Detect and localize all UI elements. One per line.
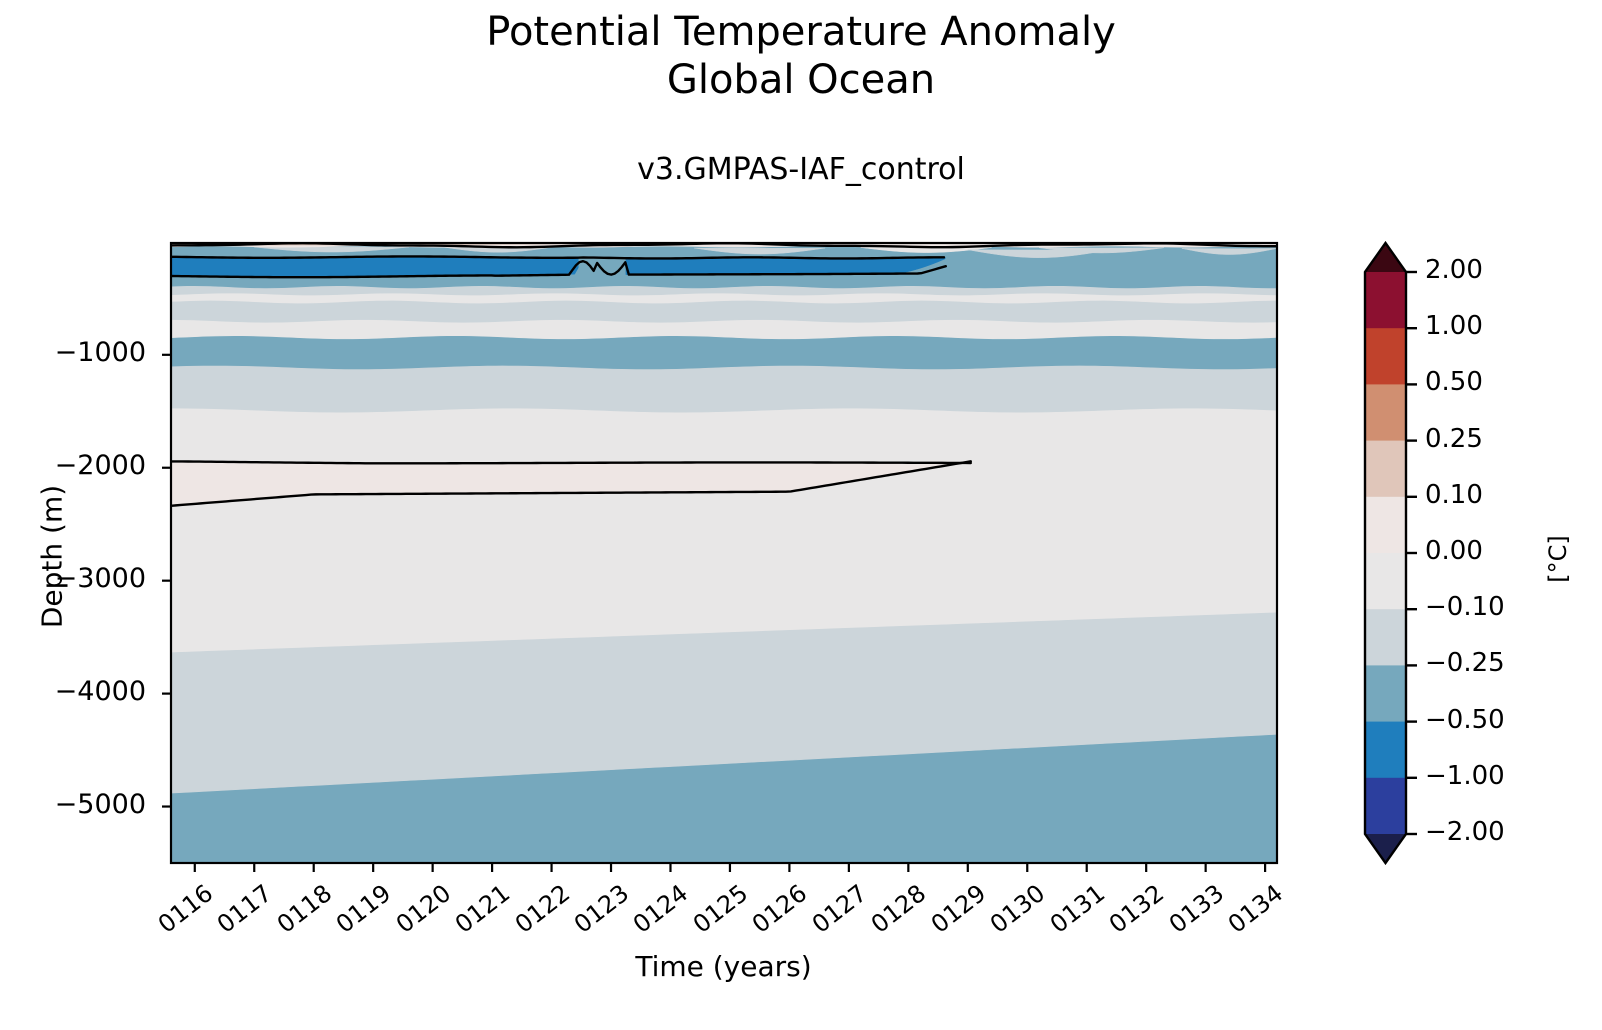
contour-fill-layer [171, 243, 1277, 863]
colorbar-tick-label: −0.10 [1425, 592, 1505, 622]
colorbar-tick-label: 1.00 [1425, 311, 1483, 341]
colorbar [1365, 243, 1417, 863]
colorbar-tick-label: 0.25 [1425, 424, 1483, 454]
colorbar-tick-label: −0.25 [1425, 648, 1505, 678]
colorbar-tick-label: −2.00 [1425, 817, 1505, 847]
y-tick-label: −2000 [0, 450, 146, 481]
y-tick-label: −5000 [0, 789, 146, 820]
colorbar-tick-label: 2.00 [1425, 255, 1483, 285]
figure-root: Potential Temperature AnomalyGlobal Ocea… [0, 0, 1602, 1030]
colorbar-tick-label: 0.10 [1425, 480, 1483, 510]
contour-plot-canvas [0, 0, 1602, 1030]
colorbar-tick-label: −1.00 [1425, 761, 1505, 791]
y-tick-label: −4000 [0, 676, 146, 707]
y-tick-label: −3000 [0, 563, 146, 594]
colorbar-tick-label: 0.00 [1425, 536, 1483, 566]
colorbar-tick-label: 0.50 [1425, 367, 1483, 397]
y-tick-label: −1000 [0, 337, 146, 368]
colorbar-tick-label: −0.50 [1425, 705, 1505, 735]
